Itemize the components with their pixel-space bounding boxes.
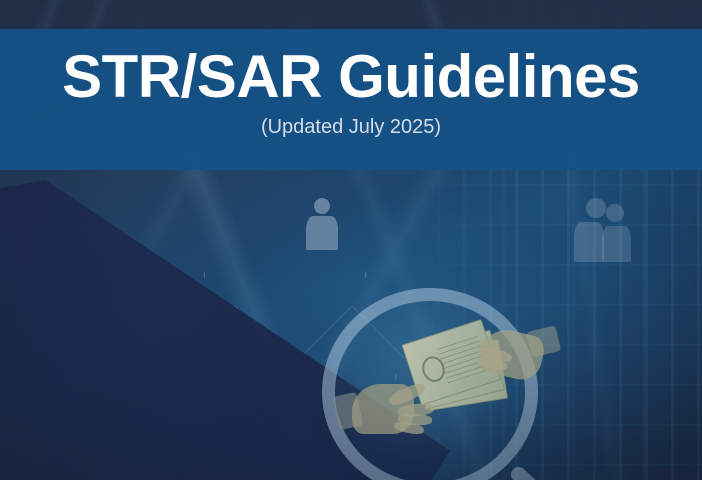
page-subtitle: (Updated July 2025) [0,109,702,139]
top-dark-band [0,0,702,29]
title-slide: STR/SAR Guidelines (Updated July 2025) [0,0,702,480]
top-band-streaks [0,0,702,29]
title-banner: STR/SAR Guidelines (Updated July 2025) [0,29,702,170]
page-title: STR/SAR Guidelines [0,29,702,109]
